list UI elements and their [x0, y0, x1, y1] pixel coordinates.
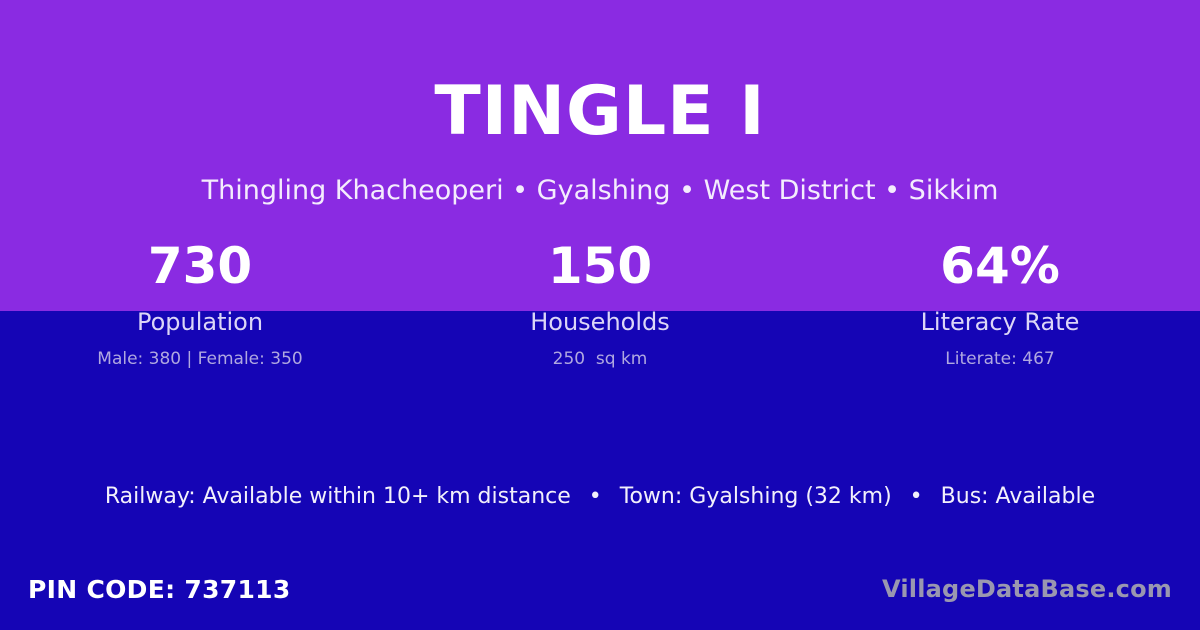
stat-label: Literacy Rate	[921, 310, 1080, 334]
stat-value: 150	[548, 240, 652, 292]
brand-watermark: VillageDataBase.com	[882, 577, 1172, 601]
bullet-separator-icon: •	[578, 484, 613, 509]
infra-bus: Bus: Available	[941, 484, 1095, 509]
stat-population: 730 Population Male: 380 | Female: 350	[0, 240, 400, 368]
stat-sublabel: Literate: 467	[945, 351, 1054, 368]
stat-value: 730	[148, 240, 252, 292]
infrastructure-line: Railway: Available within 10+ km distanc…	[0, 486, 1200, 508]
bullet-separator-icon: •	[899, 484, 934, 509]
page-title: TINGLE I	[434, 78, 765, 146]
stat-sublabel: 250 sq km	[553, 351, 648, 368]
stat-label: Population	[137, 310, 263, 334]
footer-bar: PIN CODE: 737113 VillageDataBase.com	[0, 556, 1200, 630]
infra-town: Town: Gyalshing (32 km)	[620, 484, 892, 509]
village-info-card: TINGLE I Thingling Khacheoperi • Gyalshi…	[0, 0, 1200, 630]
location-breadcrumb: Thingling Khacheoperi • Gyalshing • West…	[202, 146, 999, 204]
infra-railway: Railway: Available within 10+ km distanc…	[105, 484, 571, 509]
stat-households: 150 Households 250 sq km	[400, 240, 800, 368]
header-block: TINGLE I Thingling Khacheoperi • Gyalshi…	[0, 0, 1200, 235]
stat-sublabel: Male: 380 | Female: 350	[97, 351, 302, 368]
stat-label: Households	[530, 310, 670, 334]
stat-literacy-rate: 64% Literacy Rate Literate: 467	[800, 240, 1200, 368]
stat-value: 64%	[940, 240, 1060, 292]
stats-row: 730 Population Male: 380 | Female: 350 1…	[0, 240, 1200, 368]
pin-code: PIN CODE: 737113	[28, 577, 291, 602]
